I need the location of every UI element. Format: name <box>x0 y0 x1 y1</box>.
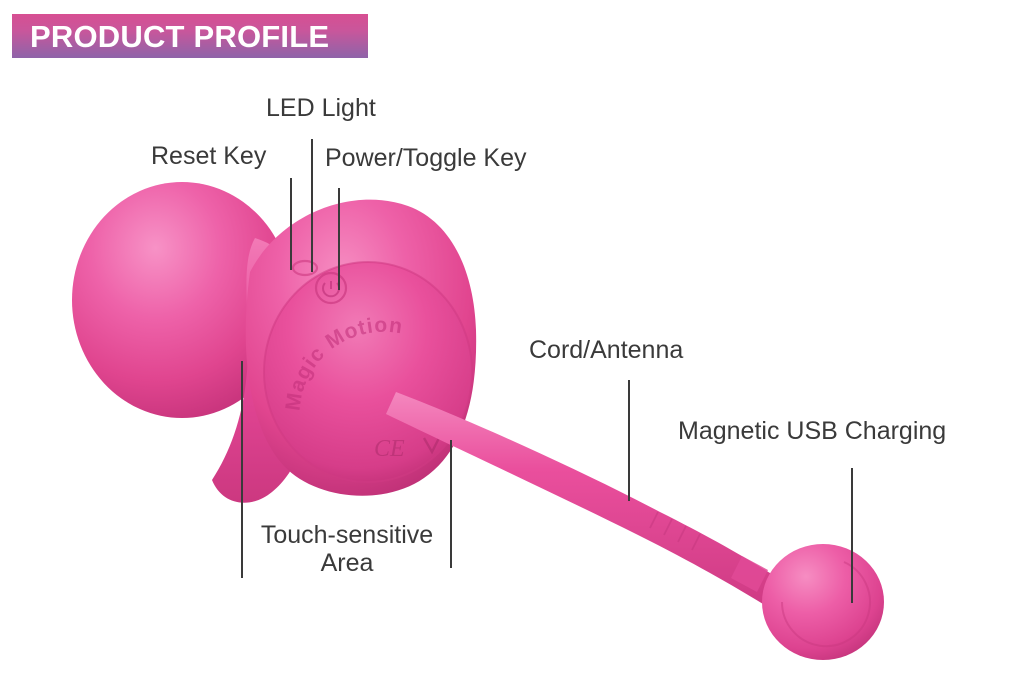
product-ce-mark: CE <box>374 436 439 462</box>
label-touch-sensitive-area: Touch-sensitive Area <box>252 521 442 577</box>
label-touch-sensitive-area-line1: Touch-sensitive <box>261 521 433 549</box>
power-symbol <box>323 281 339 296</box>
cord-ribbed-section <box>650 512 700 550</box>
product-illustration: Magic Motion CE <box>0 0 1024 675</box>
page-title-banner: PRODUCT PROFILE <box>12 14 368 58</box>
cord-collar <box>731 556 768 592</box>
svg-text:CE: CE <box>374 436 405 462</box>
label-cord-antenna: Cord/Antenna <box>529 337 683 364</box>
leader-line-reset-key <box>290 178 292 270</box>
led-indicator <box>293 261 317 275</box>
product-face-rim <box>264 262 472 482</box>
label-touch-sensitive-area-line2: Area <box>321 549 374 577</box>
leader-line-cord-antenna <box>628 380 630 501</box>
label-led-light: LED Light <box>266 95 376 122</box>
product-body <box>246 200 476 496</box>
label-power-toggle-key: Power/Toggle Key <box>325 145 527 172</box>
label-magnetic-usb-charging: Magnetic USB Charging <box>678 418 946 445</box>
leader-line-led-light <box>311 139 313 272</box>
leader-line-magnetic-usb-charging <box>851 468 853 603</box>
page-title: PRODUCT PROFILE <box>30 21 329 52</box>
usb-charging-ball <box>762 544 884 660</box>
leader-line-power-toggle-key <box>338 188 340 290</box>
product-face-disc <box>264 262 472 482</box>
product-brand-text: Magic Motion <box>281 314 404 412</box>
product-neck <box>212 238 318 503</box>
leader-line-touch-sensitive-right <box>450 440 452 568</box>
power-button <box>316 273 346 303</box>
product-left-ball <box>72 182 292 418</box>
usb-magnetic-contact <box>782 562 870 646</box>
product-profile-diagram: Magic Motion CE PRODUCT PROFILE <box>0 0 1024 675</box>
leader-line-touch-sensitive-left <box>241 361 243 578</box>
label-reset-key: Reset Key <box>151 143 266 170</box>
